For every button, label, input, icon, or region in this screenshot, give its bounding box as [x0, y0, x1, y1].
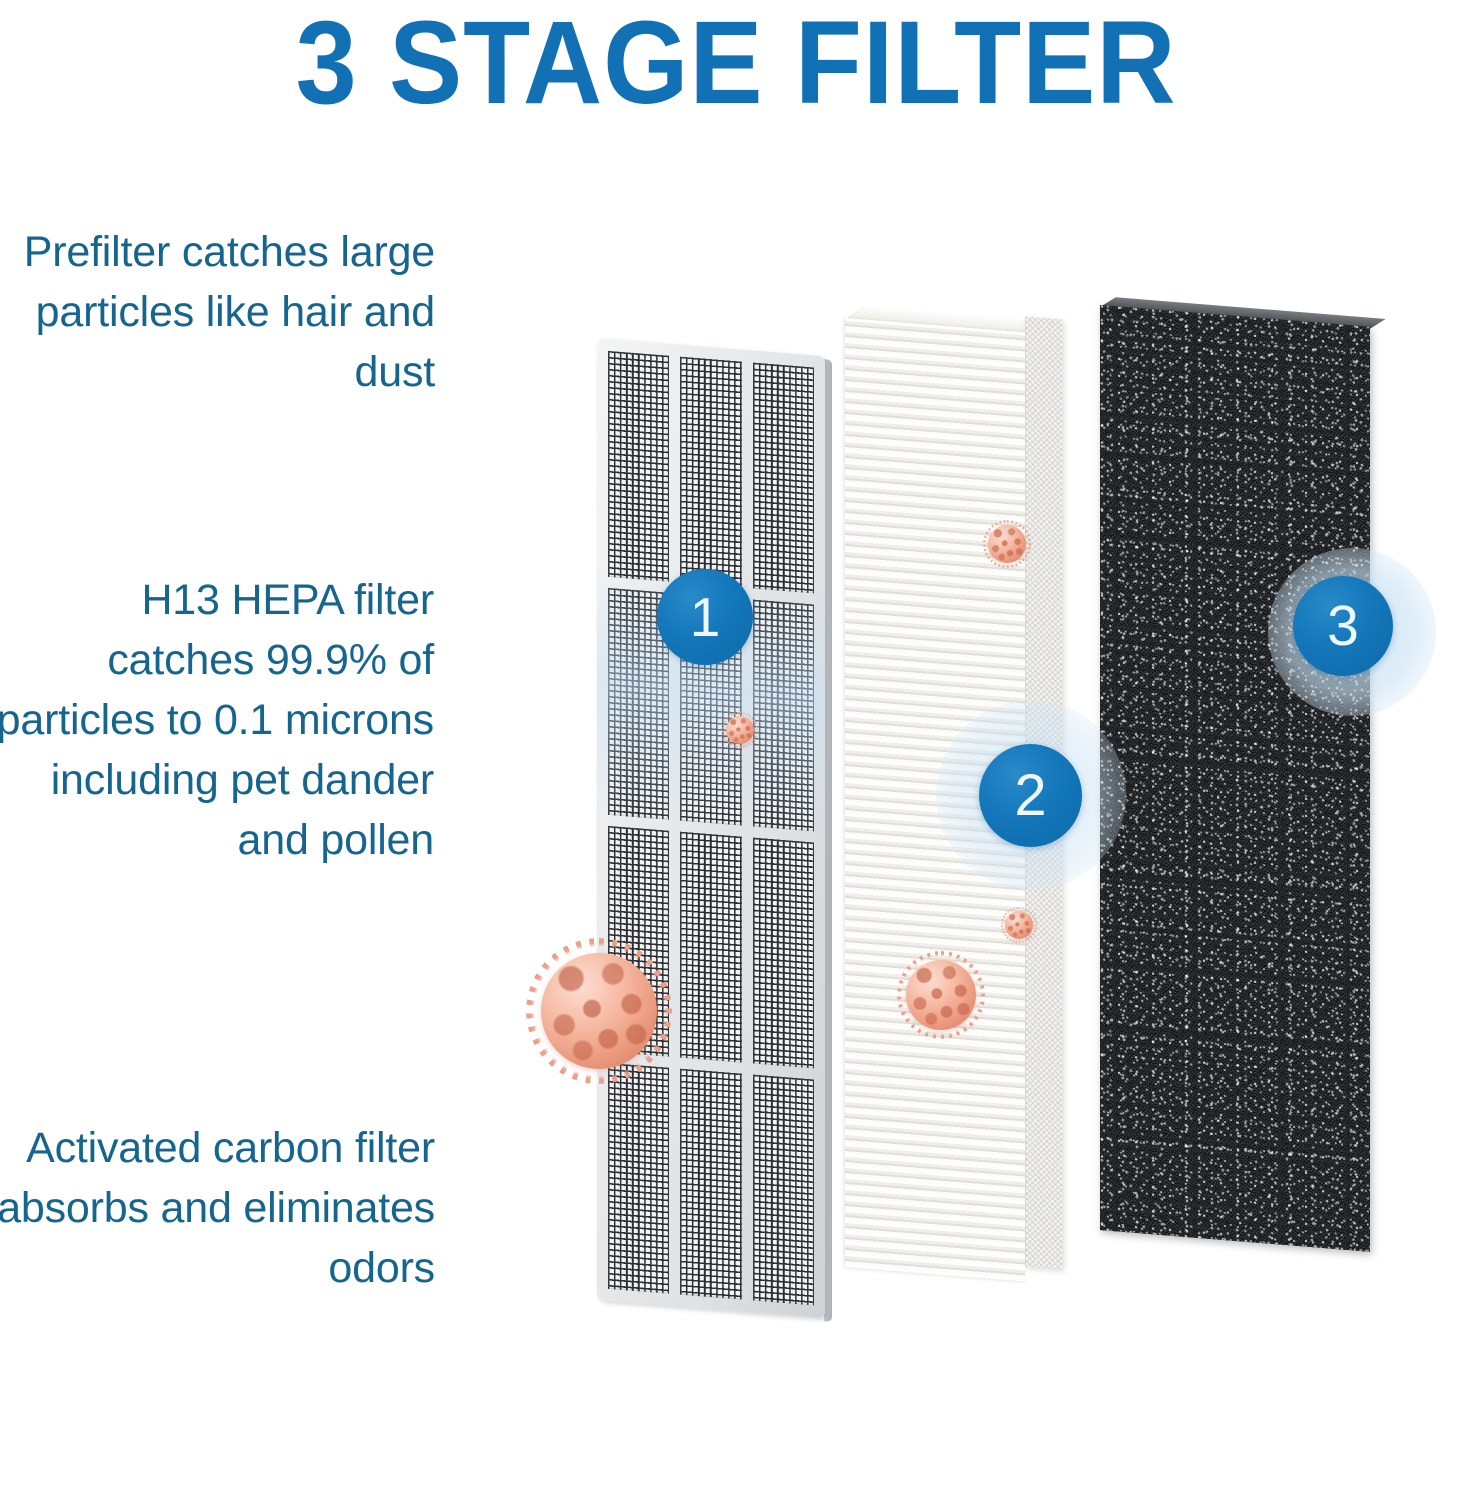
- stage-1-description: Prefilter catches large particles like h…: [0, 222, 435, 402]
- stage-3-badge-label: 3: [1327, 593, 1359, 659]
- prefilter-mesh-grid: [608, 351, 814, 1306]
- stage-3-badge[interactable]: 3: [1293, 576, 1393, 676]
- stage-2-badge-label: 2: [1014, 762, 1046, 829]
- stage-1-badge[interactable]: 1: [657, 569, 753, 665]
- pollen-particle-tiny: [726, 716, 754, 744]
- carbon-granule-texture: [1100, 305, 1370, 1252]
- page-title: 3 STAGE FILTER: [52, 4, 1421, 122]
- prefilter-panel-side-edge: [824, 359, 832, 1322]
- stage-1-badge-label: 1: [690, 585, 721, 649]
- prefilter-panel: [597, 338, 825, 1318]
- carbon-filter-panel: [1100, 305, 1370, 1252]
- pollen-particle-large: [541, 953, 657, 1069]
- prefilter-mesh-cell: [680, 357, 741, 588]
- pollen-particle-medium: [906, 960, 976, 1030]
- prefilter-mesh-cell: [753, 837, 814, 1068]
- stage-3-description: Activated carbon filter absorbs and elim…: [0, 1118, 435, 1298]
- prefilter-mesh-cell: [680, 1068, 741, 1299]
- prefilter-panel-frame: [597, 338, 825, 1318]
- prefilter-mesh-cell: [680, 831, 741, 1062]
- prefilter-mesh-cell: [753, 1074, 814, 1305]
- pollen-particle-small: [988, 525, 1026, 563]
- prefilter-mesh-cell: [753, 363, 814, 594]
- infographic-canvas: 3 STAGE FILTER Prefilter catches large p…: [0, 0, 1472, 1500]
- stage-2-description: H13 HEPA filter catches 99.9% of particl…: [0, 570, 434, 870]
- prefilter-mesh-cell: [753, 600, 814, 831]
- prefilter-mesh-cell: [608, 1063, 669, 1294]
- pollen-particle-mini: [1005, 911, 1033, 939]
- prefilter-mesh-cell: [608, 351, 669, 582]
- stage-2-badge[interactable]: 2: [979, 744, 1082, 847]
- carbon-panel-face: [1100, 305, 1370, 1252]
